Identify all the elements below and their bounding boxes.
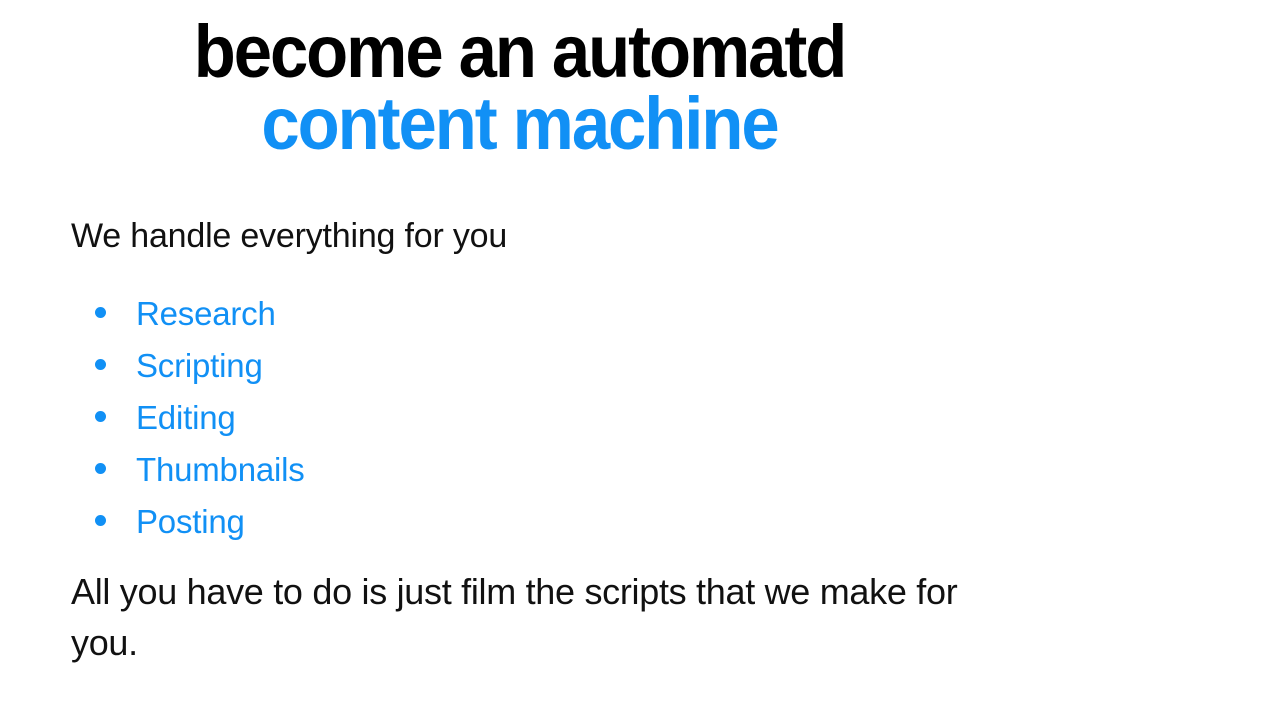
bullet-dot-icon	[95, 411, 106, 422]
list-item: Thumbnails	[95, 444, 305, 496]
list-item: Scripting	[95, 340, 305, 392]
list-item: Posting	[95, 496, 305, 548]
headline-line-primary: become an automatd	[36, 16, 1002, 88]
page-title: become an automatd content machine	[0, 16, 1279, 160]
bullet-dot-icon	[95, 515, 106, 526]
bullet-dot-icon	[95, 463, 106, 474]
bullet-dot-icon	[95, 359, 106, 370]
list-item-label: Thumbnails	[136, 444, 305, 496]
slide-canvas: become an automatd content machine We ha…	[0, 0, 1279, 719]
list-item-label: Editing	[136, 392, 236, 444]
list-item: Research	[95, 288, 305, 340]
services-list: Research Scripting Editing Thumbnails Po…	[95, 288, 305, 548]
headline-line-accent: content machine	[36, 88, 1002, 160]
list-item-label: Scripting	[136, 340, 263, 392]
list-item: Editing	[95, 392, 305, 444]
outro-text: All you have to do is just film the scri…	[71, 566, 1031, 668]
list-item-label: Research	[136, 288, 276, 340]
list-item-label: Posting	[136, 496, 245, 548]
bullet-dot-icon	[95, 307, 106, 318]
intro-text: We handle everything for you	[71, 214, 507, 258]
